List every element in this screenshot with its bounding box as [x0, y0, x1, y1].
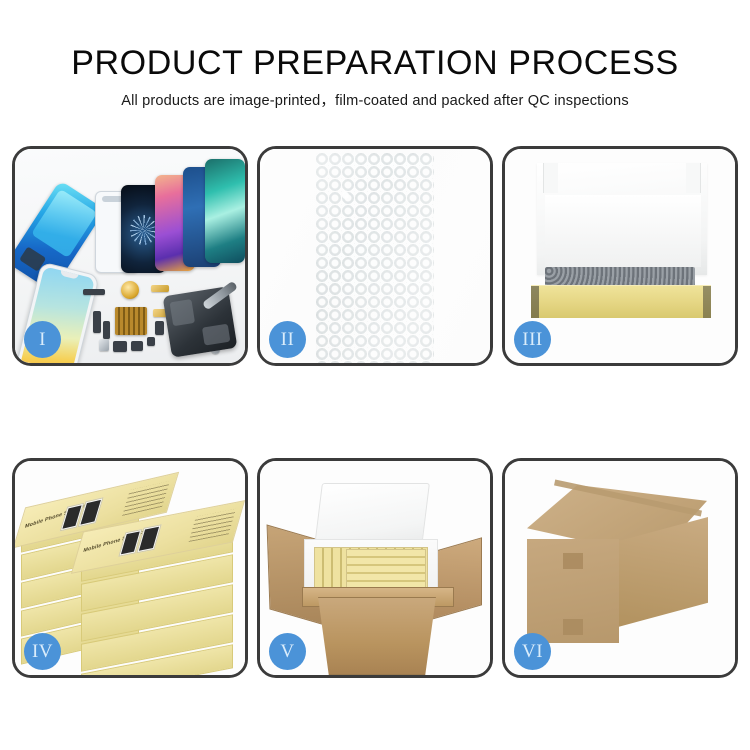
- step-badge-6: VI: [514, 633, 551, 670]
- carton-tape-mark: [563, 619, 583, 635]
- step-badge-3: III: [514, 321, 551, 358]
- box-print-phone-image: [78, 497, 104, 527]
- step-panel-1: I: [12, 146, 248, 366]
- phone-teal: [205, 159, 245, 263]
- foam-sheet: [545, 195, 701, 267]
- carton-body: [310, 597, 444, 675]
- small-part: [83, 289, 105, 295]
- page-title: PRODUCT PREPARATION PROCESS: [0, 0, 750, 82]
- small-part: [155, 321, 164, 335]
- step-badge-4: IV: [24, 633, 61, 670]
- steps-grid: I II: [12, 146, 738, 678]
- small-part: [103, 321, 110, 339]
- small-part: [151, 285, 169, 292]
- phone-back-cover-teardown: [163, 286, 238, 358]
- camera-ring-part: [121, 281, 139, 299]
- small-part: [93, 311, 101, 333]
- chip-array-part: [115, 307, 147, 335]
- small-part: [131, 341, 143, 351]
- page-subtitle: All products are image-printed，film-coat…: [0, 82, 750, 110]
- step-panel-3: III: [502, 146, 738, 366]
- kraft-box-tray: [531, 285, 711, 318]
- box-print-textlines: [189, 509, 236, 542]
- step-panel-6: VI: [502, 458, 738, 678]
- step-panel-4: Mobile Phone Spare Parts Mobile Phone Sp…: [12, 458, 248, 678]
- small-part: [99, 339, 109, 351]
- step-badge-1: I: [24, 321, 61, 358]
- header: PRODUCT PREPARATION PROCESS All products…: [0, 0, 750, 110]
- small-part: [147, 337, 155, 346]
- box-print-textlines: [122, 481, 170, 516]
- product-preparation-infographic: PRODUCT PREPARATION PROCESS All products…: [0, 0, 750, 750]
- carton-tape-mark: [563, 553, 583, 569]
- step-panel-2: II: [257, 146, 493, 366]
- step-panel-5: V: [257, 458, 493, 678]
- small-part: [113, 341, 127, 352]
- foam-box-lid: [314, 483, 430, 547]
- bubble-wrap-bag: [316, 153, 434, 363]
- step-badge-5: V: [269, 633, 306, 670]
- step-badge-2: II: [269, 321, 306, 358]
